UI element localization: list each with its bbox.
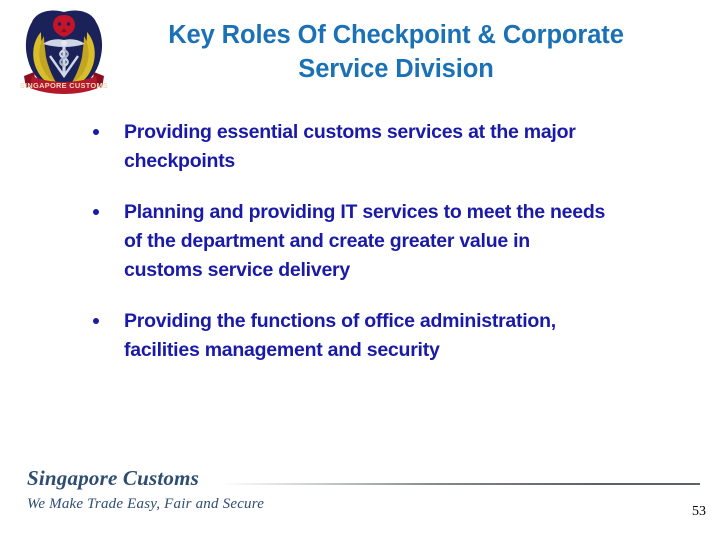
- footer-divider: [222, 483, 700, 485]
- bullet-3-line-1: Providing the functions of office admini…: [124, 307, 678, 336]
- bullet-3-line-2: facilities management and security: [124, 336, 678, 365]
- bullet-2-line-2: of the department and create greater val…: [124, 227, 678, 256]
- crest-banner-text: SINGAPORE CUSTOMS: [20, 81, 108, 90]
- bullet-2-line-1: Planning and providing IT services to me…: [124, 198, 678, 227]
- footer-tagline: We Make Trade Easy, Fair and Secure: [27, 495, 264, 514]
- bullet-dot-icon: [93, 209, 99, 215]
- bullet-2-line-3: customs service delivery: [124, 256, 678, 285]
- bullet-list: Providing essential customs services at …: [88, 118, 678, 365]
- list-item: Providing essential customs services at …: [88, 118, 678, 176]
- slide-title-line-2: Service Division: [118, 52, 674, 86]
- bullet-dot-icon: [93, 129, 99, 135]
- list-item: Providing the functions of office admini…: [88, 307, 678, 365]
- bullet-text-2: Planning and providing IT services to me…: [124, 198, 678, 285]
- bullet-dot-icon: [93, 318, 99, 324]
- bullet-1-line-2: checkpoints: [124, 147, 678, 176]
- bullet-text-1: Providing essential customs services at …: [124, 118, 678, 176]
- slide-footer: Singapore Customs We Make Trade Easy, Fa…: [0, 466, 720, 540]
- bullet-text-3: Providing the functions of office admini…: [124, 307, 678, 365]
- bullet-1-line-1: Providing essential customs services at …: [124, 118, 678, 147]
- slide-canvas: SINGAPORE CUSTOMS Key Roles Of Checkpoin…: [0, 0, 720, 540]
- slide-title: Key Roles Of Checkpoint & Corporate Serv…: [118, 18, 674, 86]
- singapore-customs-crest-icon: SINGAPORE CUSTOMS: [10, 6, 118, 102]
- list-item: Planning and providing IT services to me…: [88, 198, 678, 285]
- footer-brand: Singapore Customs: [27, 466, 199, 490]
- page-number: 53: [692, 504, 706, 520]
- slide-title-line-1: Key Roles Of Checkpoint & Corporate: [118, 18, 674, 52]
